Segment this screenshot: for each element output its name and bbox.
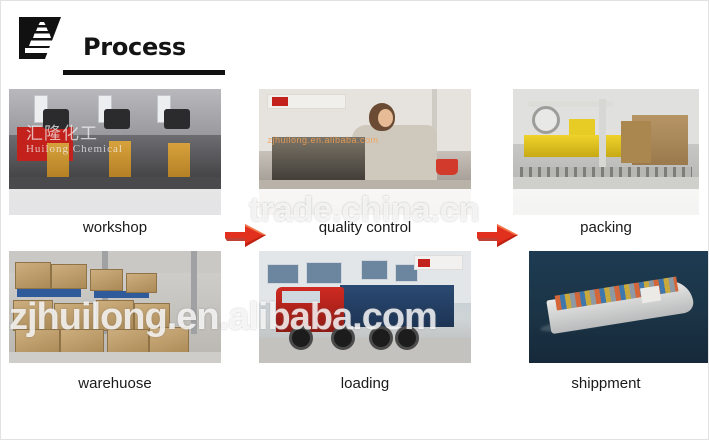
process-section-page: Process 汇 — [0, 0, 709, 440]
section-header: Process — [15, 13, 215, 69]
warehouse-caption: warehuose — [9, 375, 221, 392]
workshop-caption: workshop — [9, 219, 221, 236]
process-item-loading[interactable]: loading — [259, 251, 471, 363]
container-ship-scene-icon — [529, 251, 709, 363]
loading-photo[interactable] — [259, 251, 471, 363]
warehouse-scene-icon — [9, 251, 221, 363]
shipment-caption: shippment — [513, 375, 699, 392]
packing-caption: packing — [513, 219, 699, 236]
workshop-watermark-cn: 汇隆化工 — [26, 119, 204, 144]
process-item-shipment[interactable]: shippment — [513, 251, 709, 363]
title-underline-rule — [77, 70, 225, 75]
packing-photo[interactable] — [513, 89, 699, 189]
packing-photo-reflection — [513, 189, 699, 215]
shipment-photo[interactable] — [529, 251, 709, 363]
process-item-workshop[interactable]: 汇隆化工 Huilong Chemical workshop — [9, 89, 221, 189]
process-item-quality-control[interactable]: zjhuilong.en.alibaba.com quality control — [259, 89, 471, 189]
packing-machine-scene-icon — [513, 89, 699, 189]
workshop-watermark-en: Huilong Chemical — [26, 143, 204, 155]
workshop-photo[interactable]: 汇隆化工 Huilong Chemical — [9, 89, 221, 189]
page-title: Process — [83, 35, 186, 59]
quality-control-scene-icon — [259, 89, 471, 189]
quality-control-photo-reflection — [259, 189, 471, 215]
process-item-warehouse[interactable]: warehuose — [9, 251, 221, 363]
quality-control-photo[interactable]: zjhuilong.en.alibaba.com — [259, 89, 471, 189]
workshop-photo-reflection — [9, 189, 221, 215]
cone-flag-logo-icon — [15, 13, 75, 61]
loading-truck-scene-icon — [259, 251, 471, 363]
quality-control-caption: quality control — [259, 219, 471, 236]
loading-caption: loading — [259, 375, 471, 392]
warehouse-photo[interactable] — [9, 251, 221, 363]
process-item-packing[interactable]: packing — [513, 89, 699, 189]
